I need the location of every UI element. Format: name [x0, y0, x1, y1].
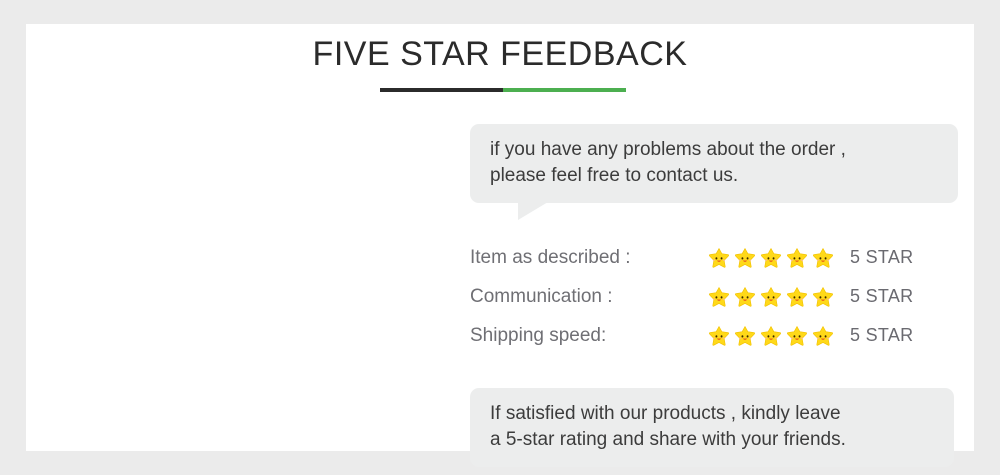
review-request-bubble: If satisfied with our products , kindly …: [470, 388, 954, 467]
star-icon: [708, 247, 730, 269]
rating-row: Item as described : 5 STAR: [470, 238, 958, 277]
rating-value: 5 STAR: [850, 247, 913, 268]
star-icon: [812, 325, 834, 347]
star-icon: [708, 286, 730, 308]
rating-row: Communication : 5 STAR: [470, 277, 958, 316]
content-column: if you have any problems about the order…: [470, 124, 958, 467]
star-icon: [786, 325, 808, 347]
support-message-line1: if you have any problems about the order…: [490, 137, 938, 163]
rating-value: 5 STAR: [850, 286, 913, 307]
star-icon: [734, 286, 756, 308]
star-rating: [708, 286, 850, 308]
feedback-banner: FIVE STAR FEEDBACK if you have any probl…: [0, 0, 1000, 475]
star-icon: [760, 247, 782, 269]
star-icon: [812, 286, 834, 308]
support-message-line2: please feel free to contact us.: [490, 163, 938, 189]
product-image: [60, 163, 442, 371]
rating-row: Shipping speed: 5 STAR: [470, 316, 958, 355]
rating-label: Shipping speed:: [470, 325, 708, 347]
header: FIVE STAR FEEDBACK: [26, 24, 974, 75]
rating-label: Communication :: [470, 286, 708, 308]
rating-value: 5 STAR: [850, 325, 913, 346]
rating-label: Item as described :: [470, 247, 708, 269]
star-rating: [708, 325, 850, 347]
banner-panel: FIVE STAR FEEDBACK if you have any probl…: [26, 24, 974, 451]
page-title: FIVE STAR FEEDBACK: [26, 24, 974, 75]
bottom-message-wrap: If satisfied with our products , kindly …: [470, 388, 958, 467]
review-request-line1: If satisfied with our products , kindly …: [490, 401, 934, 427]
star-icon: [708, 325, 730, 347]
support-message-bubble: if you have any problems about the order…: [470, 124, 958, 203]
star-icon: [734, 325, 756, 347]
star-icon: [786, 286, 808, 308]
ratings-list: Item as described : 5 STAR Communication…: [470, 238, 958, 355]
star-icon: [786, 247, 808, 269]
bubble-tail-icon: [518, 202, 548, 220]
underline-green-segment: [503, 88, 626, 92]
star-rating: [708, 247, 850, 269]
underline-dark-segment: [380, 88, 503, 92]
title-underline: [380, 88, 626, 92]
star-icon: [812, 247, 834, 269]
star-icon: [734, 247, 756, 269]
star-icon: [760, 325, 782, 347]
review-request-line2: a 5-star rating and share with your frie…: [490, 427, 934, 453]
star-icon: [760, 286, 782, 308]
